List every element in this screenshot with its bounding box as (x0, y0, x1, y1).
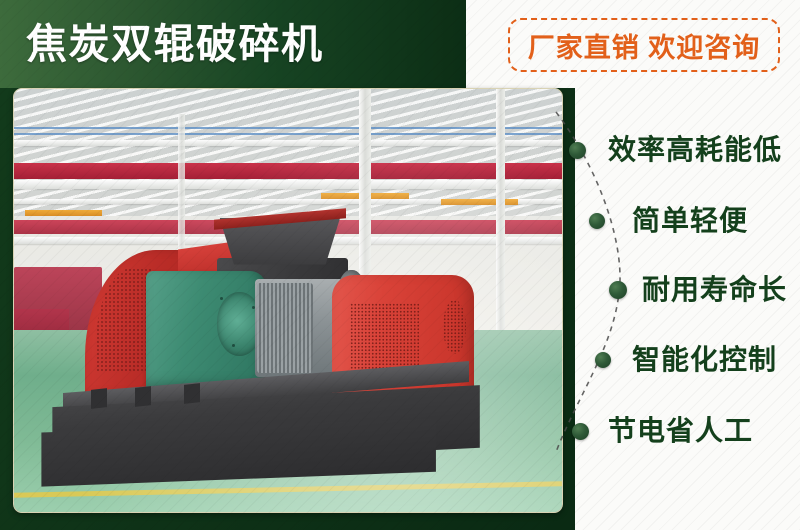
product-photo-image (14, 89, 562, 512)
base-bracket (135, 386, 151, 407)
guard-mesh-port (443, 300, 466, 353)
feature-bullet-dot-5 (572, 423, 589, 440)
feature-bullet-dot-3 (609, 281, 627, 299)
promo-badge[interactable]: 厂家直销 欢迎咨询 (508, 18, 780, 72)
product-photo (13, 88, 563, 513)
promo-banner: 焦炭双辊破碎机 (0, 0, 800, 530)
feature-label-2: 简单轻便 (632, 204, 748, 238)
promo-badge-label: 厂家直销 欢迎咨询 (528, 26, 761, 65)
feature-bullet-dot-4 (595, 352, 611, 368)
feature-bullet-dot-1 (569, 142, 586, 159)
feature-label-4: 智能化控制 (632, 343, 777, 377)
guard-mesh-panel (350, 303, 418, 374)
gearbox-bolt (220, 297, 223, 300)
base-bracket (91, 388, 107, 409)
feature-label-3: 耐用寿命长 (642, 273, 787, 307)
feature-bullet-dot-2 (589, 213, 605, 229)
base-bracket (184, 383, 200, 404)
page-title: 焦炭双辊破碎机 (26, 16, 324, 72)
motor-cooling-fins (257, 283, 312, 372)
crusher-gearbox (146, 271, 267, 389)
feature-label-1: 效率高耗能低 (608, 133, 782, 167)
feature-label-5: 节电省人工 (608, 414, 753, 448)
